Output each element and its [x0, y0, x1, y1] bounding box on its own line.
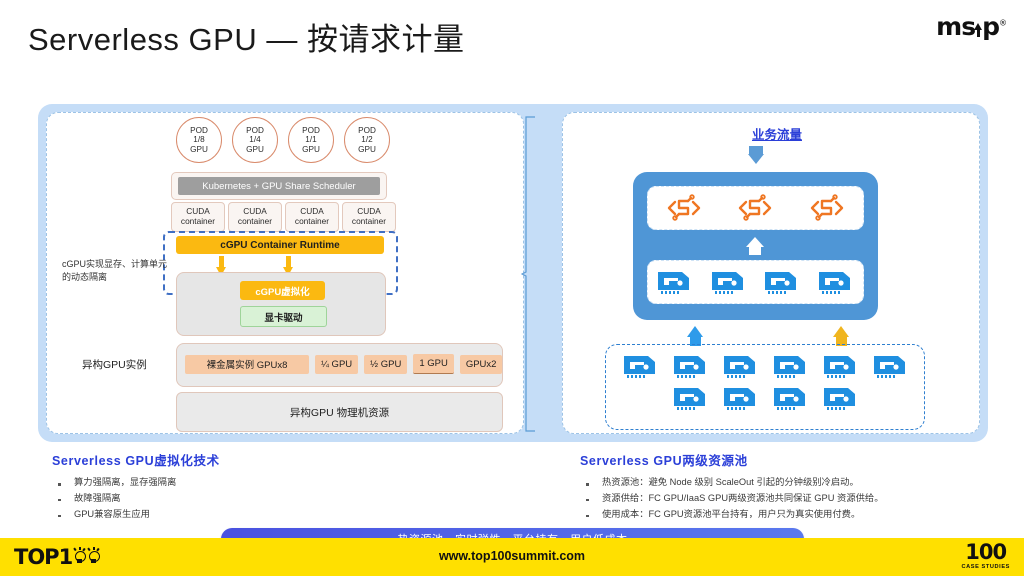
- pod-label: POD: [302, 126, 320, 135]
- physical-resource-box: 异构GPU 物理机资源: [176, 392, 503, 432]
- pod-fraction: 1/1: [305, 135, 316, 144]
- gpu-instance-row: 裸金属实例 GPUx8 ¼ GPU ½ GPU 1 GPU GPUx2: [185, 354, 502, 374]
- gpu-chip-icon: [671, 385, 711, 411]
- cold-resource-pool: [605, 344, 925, 430]
- footer-bar: TOP1 www.top100summit.com 100 CASE STUDI…: [0, 538, 1024, 576]
- fc-function-icon: [664, 193, 704, 223]
- gpu-instance-chip: ½ GPU: [364, 355, 407, 374]
- gpu-chip-icon: [721, 353, 761, 379]
- gpu-chip-icon: [709, 269, 749, 295]
- left-section: Serverless GPU虚拟化技术 算力强隔离，显存强隔离 故障强隔离 GP…: [52, 450, 512, 523]
- gpu-chip-icon: [762, 269, 802, 295]
- gpu-instance-chip: GPUx2: [460, 355, 503, 374]
- list-item: 资源供给：FC GPU/IaaS GPU两级资源池共同保证 GPU 资源供给。: [580, 491, 1010, 507]
- hot-resource-pool: [633, 172, 878, 320]
- cuda-sublabel: container: [238, 217, 272, 227]
- fc-function-icon: [735, 193, 775, 223]
- gpu-chip-icon: [816, 269, 856, 295]
- gpu-chip-icon: [671, 353, 711, 379]
- pod-unit: GPU: [358, 145, 376, 154]
- gpu-chip-icon: [655, 269, 695, 295]
- pod-node: POD 1/4 GPU: [232, 117, 278, 163]
- cuda-sublabel: container: [181, 217, 215, 227]
- pod-node: POD 1/2 GPU: [344, 117, 390, 163]
- gpu-chip-icon: [821, 353, 861, 379]
- gpu-instance-chip: ¼ GPU: [315, 355, 358, 374]
- cuda-sublabel: container: [352, 217, 386, 227]
- footer-url: www.top100summit.com: [0, 549, 1024, 563]
- right-section-list: 热资源池：避免 Node 级别 ScaleOut 引起的分钟级别冷启动。 资源供…: [580, 475, 1010, 523]
- cuda-container-row: CUDA container CUDA container CUDA conta…: [171, 202, 396, 232]
- cgpu-annotation: cGPU实现显存、计算单元的动态隔离: [62, 258, 167, 284]
- gpu-chip-icon: [621, 353, 661, 379]
- function-row: [647, 186, 864, 230]
- right-section-heading: Serverless GPU两级资源池: [580, 450, 1010, 469]
- pod-label: POD: [358, 126, 376, 135]
- list-item: 故障强隔离: [52, 491, 512, 507]
- pod-fraction: 1/2: [361, 135, 372, 144]
- pod-label: POD: [246, 126, 264, 135]
- pod-row: POD 1/8 GPU POD 1/4 GPU POD 1/1 GPU POD …: [176, 117, 390, 163]
- pod-unit: GPU: [246, 145, 264, 154]
- scale-up-arrow-icon: [687, 326, 703, 346]
- gpu-instance-chip: 1 GPU: [413, 354, 454, 374]
- scheduler-container: Kubernetes + GPU Share Scheduler: [171, 172, 387, 200]
- fc-function-icon: [807, 193, 847, 223]
- traffic-title: 业务流量: [572, 124, 982, 143]
- gpu-chip-icon: [721, 385, 761, 411]
- case-studies-number: 100: [961, 542, 1010, 563]
- gpu-chip-icon: [771, 353, 811, 379]
- left-section-list: 算力强隔离，显存强隔离 故障强隔离 GPU兼容原生应用: [52, 475, 512, 523]
- msup-logo-text-2: p: [982, 12, 999, 41]
- pod-label: POD: [190, 126, 208, 135]
- gpu-instance-container: 裸金属实例 GPUx8 ¼ GPU ½ GPU 1 GPU GPUx2: [176, 343, 503, 387]
- gpu-instance-label: 异构GPU实例: [82, 357, 147, 372]
- cgpu-virtualization-box: cGPU虚拟化: [240, 281, 325, 300]
- list-item: 算力强隔离，显存强隔离: [52, 475, 512, 491]
- list-item: 热资源池：避免 Node 级别 ScaleOut 引起的分钟级别冷启动。: [580, 475, 1010, 491]
- page-title: Serverless GPU — 按请求计量: [28, 14, 464, 59]
- pod-node: POD 1/8 GPU: [176, 117, 222, 163]
- gpu-chip-icon: [771, 385, 811, 411]
- cold-pool-gpu-grid: [620, 353, 912, 411]
- gpu-chip-icon: [871, 353, 911, 379]
- cuda-container: CUDA container: [171, 202, 225, 232]
- msup-logo-text: ms: [936, 12, 975, 41]
- cuda-sublabel: container: [295, 217, 329, 227]
- hot-pool-gpu-row: [647, 260, 864, 304]
- left-section-heading: Serverless GPU虚拟化技术: [52, 450, 512, 469]
- list-item: GPU兼容原生应用: [52, 507, 512, 523]
- scheduler-bar: Kubernetes + GPU Share Scheduler: [178, 177, 380, 195]
- pod-unit: GPU: [190, 145, 208, 154]
- scale-out-arrow-icon: [833, 326, 849, 346]
- cuda-container: CUDA container: [285, 202, 339, 232]
- gpu-driver-box: 显卡驱动: [240, 306, 327, 327]
- cgpu-runtime-box: cGPU Container Runtime: [176, 236, 384, 254]
- gpu-stack-box: cGPU虚拟化 显卡驱动: [176, 272, 386, 336]
- case-studies-logo: 100 CASE STUDIES: [961, 542, 1010, 570]
- brace-connector: [521, 116, 537, 432]
- cuda-container: CUDA container: [342, 202, 396, 232]
- gpu-chip-icon: [821, 385, 861, 411]
- right-section: Serverless GPU两级资源池 热资源池：避免 Node 级别 Scal…: [580, 450, 1010, 523]
- case-studies-label: CASE STUDIES: [961, 564, 1010, 570]
- list-item: 使用成本：FC GPU资源池平台持有，用户只为真实使用付费。: [580, 507, 1010, 523]
- pod-fraction: 1/4: [249, 135, 260, 144]
- traffic-down-arrow-icon: [748, 146, 764, 164]
- msup-logo: msp®: [936, 12, 1006, 41]
- cuda-container: CUDA container: [228, 202, 282, 232]
- gpu-instance-chip: 裸金属实例 GPUx8: [185, 355, 309, 374]
- pod-unit: GPU: [302, 145, 320, 154]
- up-arrow-icon: [746, 237, 764, 255]
- pod-node: POD 1/1 GPU: [288, 117, 334, 163]
- up-arrow-icon: [974, 23, 983, 37]
- pod-fraction: 1/8: [193, 135, 204, 144]
- registered-mark: ®: [999, 19, 1006, 28]
